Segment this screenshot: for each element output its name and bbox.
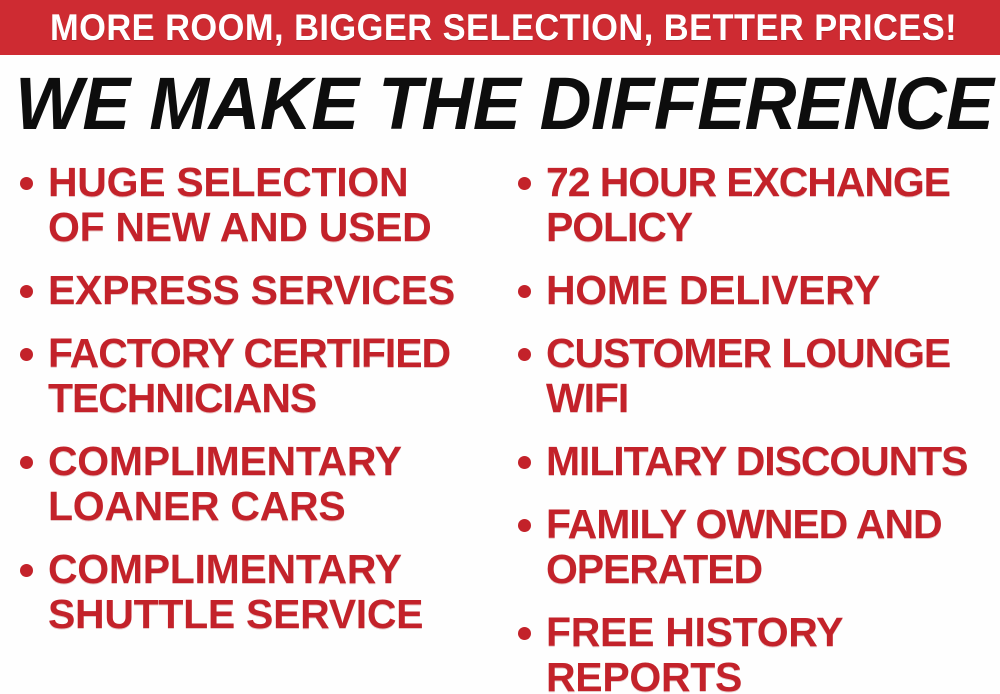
bullet-dot-icon: [20, 348, 33, 361]
list-item: CUSTOMER LOUNGE WIFI: [518, 331, 1000, 421]
feature-column-left: HUGE SELECTION OF NEW AND USED EXPRESS S…: [20, 160, 500, 655]
list-item-label: HUGE SELECTION OF NEW AND USED: [48, 160, 500, 250]
list-item: FAMILY OWNED AND OPERATED: [518, 502, 1000, 592]
promo-poster: MORE ROOM, BIGGER SELECTION, BETTER PRIC…: [0, 0, 1000, 694]
bullet-dot-icon: [20, 456, 33, 469]
bullet-dot-icon: [518, 177, 531, 190]
list-item-label: EXPRESS SERVICES: [48, 268, 500, 313]
list-item: COMPLIMENTARY LOANER CARS: [20, 439, 500, 529]
bullet-dot-icon: [518, 285, 531, 298]
list-item: 72 HOUR EXCHANGE POLICY: [518, 160, 1000, 250]
bullet-dot-icon: [518, 456, 531, 469]
feature-columns: HUGE SELECTION OF NEW AND USED EXPRESS S…: [0, 160, 1000, 680]
list-item: HOME DELIVERY: [518, 268, 1000, 313]
page-title: WE MAKE THE DIFFERENCE: [0, 66, 1000, 142]
list-item-label: 72 HOUR EXCHANGE POLICY: [546, 160, 1000, 250]
list-item: COMPLIMENTARY SHUTTLE SERVICE: [20, 547, 500, 637]
bullet-dot-icon: [20, 564, 33, 577]
bullet-dot-icon: [518, 627, 531, 640]
list-item-label: MILITARY DISCOUNTS: [546, 439, 1000, 484]
list-item-label: FAMILY OWNED AND OPERATED: [546, 502, 1000, 592]
list-item-label: COMPLIMENTARY LOANER CARS: [48, 439, 500, 529]
list-item: EXPRESS SERVICES: [20, 268, 500, 313]
list-item-label: FREE HISTORY REPORTS: [546, 610, 1000, 694]
bullet-dot-icon: [518, 519, 531, 532]
list-item: MILITARY DISCOUNTS: [518, 439, 1000, 484]
list-item: FREE HISTORY REPORTS: [518, 610, 1000, 694]
list-item-label: COMPLIMENTARY SHUTTLE SERVICE: [48, 547, 500, 637]
page-title-text: WE MAKE THE DIFFERENCE: [15, 66, 993, 142]
list-item-label: FACTORY CERTIFIED TECHNICIANS: [48, 331, 500, 421]
bullet-dot-icon: [20, 177, 33, 190]
feature-column-right: 72 HOUR EXCHANGE POLICY HOME DELIVERY CU…: [518, 160, 1000, 694]
bullet-dot-icon: [20, 285, 33, 298]
list-item: HUGE SELECTION OF NEW AND USED: [20, 160, 500, 250]
top-banner: MORE ROOM, BIGGER SELECTION, BETTER PRIC…: [0, 0, 1000, 55]
list-item-label: CUSTOMER LOUNGE WIFI: [546, 331, 1000, 421]
banner-headline-text: MORE ROOM, BIGGER SELECTION, BETTER PRIC…: [50, 9, 957, 46]
list-item: FACTORY CERTIFIED TECHNICIANS: [20, 331, 500, 421]
bullet-dot-icon: [518, 348, 531, 361]
list-item-label: HOME DELIVERY: [546, 268, 1000, 313]
